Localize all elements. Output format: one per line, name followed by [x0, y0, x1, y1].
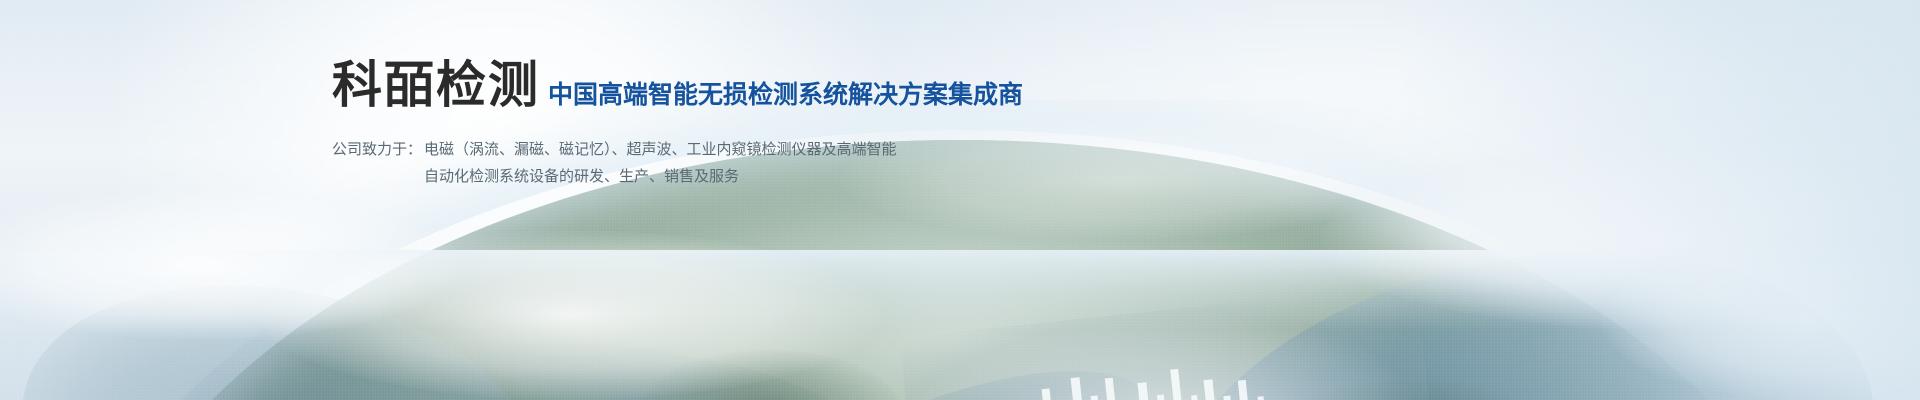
tower — [1204, 379, 1219, 400]
tower — [1042, 388, 1057, 400]
tower — [1258, 396, 1268, 400]
water-inlet — [434, 321, 865, 400]
horizon-haze — [0, 250, 1920, 330]
cloud — [1600, 240, 1920, 400]
description-line-1: 电磁（涡流、漏磁、磁记忆）、超声波、工业内窥镜检测仪器及高端智能 — [424, 136, 897, 163]
description-label: 公司致力于： — [332, 136, 422, 163]
tower — [1105, 378, 1120, 400]
downtown-core — [899, 283, 1440, 400]
banner-text-block: 科皕检测 中国高端智能无损检测系统解决方案集成商 公司致力于： 电磁（涡流、漏磁… — [332, 60, 1232, 190]
cloud — [1320, 150, 1920, 330]
tower — [1071, 377, 1088, 400]
tower — [1170, 369, 1185, 400]
brand-slogan: 中国高端智能无损检测系统解决方案集成商 — [548, 83, 1023, 108]
tower — [1223, 396, 1234, 400]
company-description: 公司致力于： 电磁（涡流、漏磁、磁记忆）、超声波、工业内窥镜检测仪器及高端智能 … — [332, 136, 1232, 190]
green-area-east — [1260, 380, 1560, 400]
tower — [1238, 380, 1252, 400]
atmospheric-haze — [1400, 0, 1920, 400]
brand-title-row: 科皕检测 中国高端智能无损检测系统解决方案集成商 — [332, 60, 1232, 110]
tower — [1191, 395, 1202, 400]
brand-name: 科皕检测 — [332, 60, 540, 110]
cloud — [0, 190, 460, 340]
water-right — [1124, 190, 1916, 400]
description-line-2: 自动化检测系统设备的研发、生产、销售及服务 — [424, 163, 897, 190]
tower — [1157, 394, 1169, 400]
green-area-west — [640, 350, 900, 400]
tower — [1137, 382, 1152, 400]
cloud — [260, 230, 880, 400]
water-bay — [768, 335, 1173, 400]
tower — [1091, 395, 1104, 400]
description-lines: 电磁（涡流、漏磁、磁记忆）、超声波、工业内窥镜检测仪器及高端智能 自动化检测系统… — [424, 136, 897, 190]
hero-banner: 科皕检测 中国高端智能无损检测系统解决方案集成商 公司致力于： 电磁（涡流、漏磁… — [0, 0, 1920, 400]
water-left — [0, 247, 562, 400]
